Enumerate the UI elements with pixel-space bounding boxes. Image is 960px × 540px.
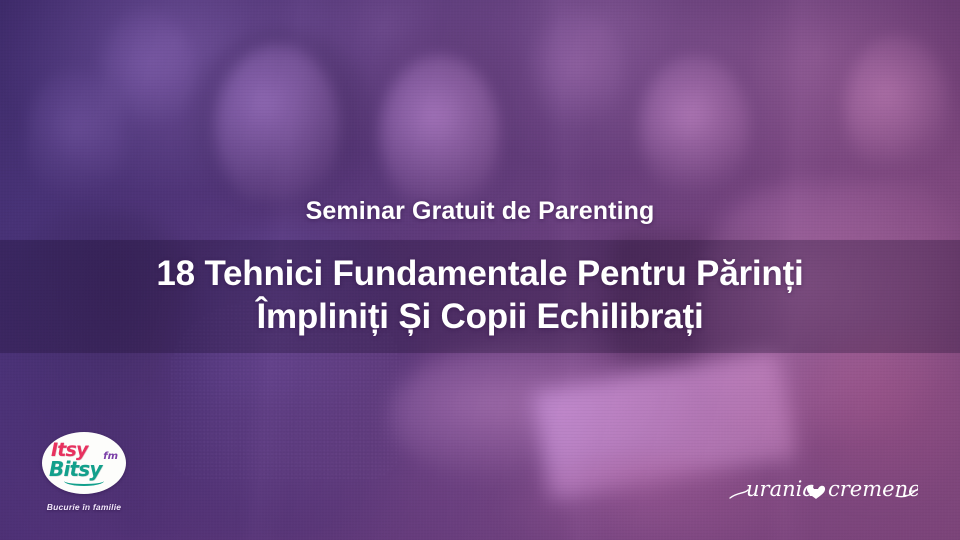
promo-banner: Seminar Gratuit de Parenting 18 Tehnici … — [0, 0, 960, 540]
signature-first-name: urania — [746, 477, 815, 501]
logo-tagline: Bucurie în familie — [38, 502, 130, 512]
logo-disc: Itsy fm Bitsy — [42, 432, 126, 494]
headline-line-2: Împliniți Și Copii Echilibrați — [0, 295, 960, 338]
speaker-signature: urania cremene — [728, 468, 918, 512]
event-headline: 18 Tehnici Fundamentale Pentru Părinți Î… — [0, 252, 960, 338]
signature-last-name: cremene — [828, 477, 918, 501]
signature-script: urania cremene — [728, 468, 918, 512]
headline-line-1: 18 Tehnici Fundamentale Pentru Părinți — [0, 252, 960, 295]
logo-swoosh-icon — [64, 476, 104, 486]
itsy-bitsy-logo[interactable]: Itsy fm Bitsy Bucurie în familie — [38, 432, 130, 512]
logo-badge-fm: fm — [103, 452, 118, 462]
event-subtitle: Seminar Gratuit de Parenting — [0, 197, 960, 226]
